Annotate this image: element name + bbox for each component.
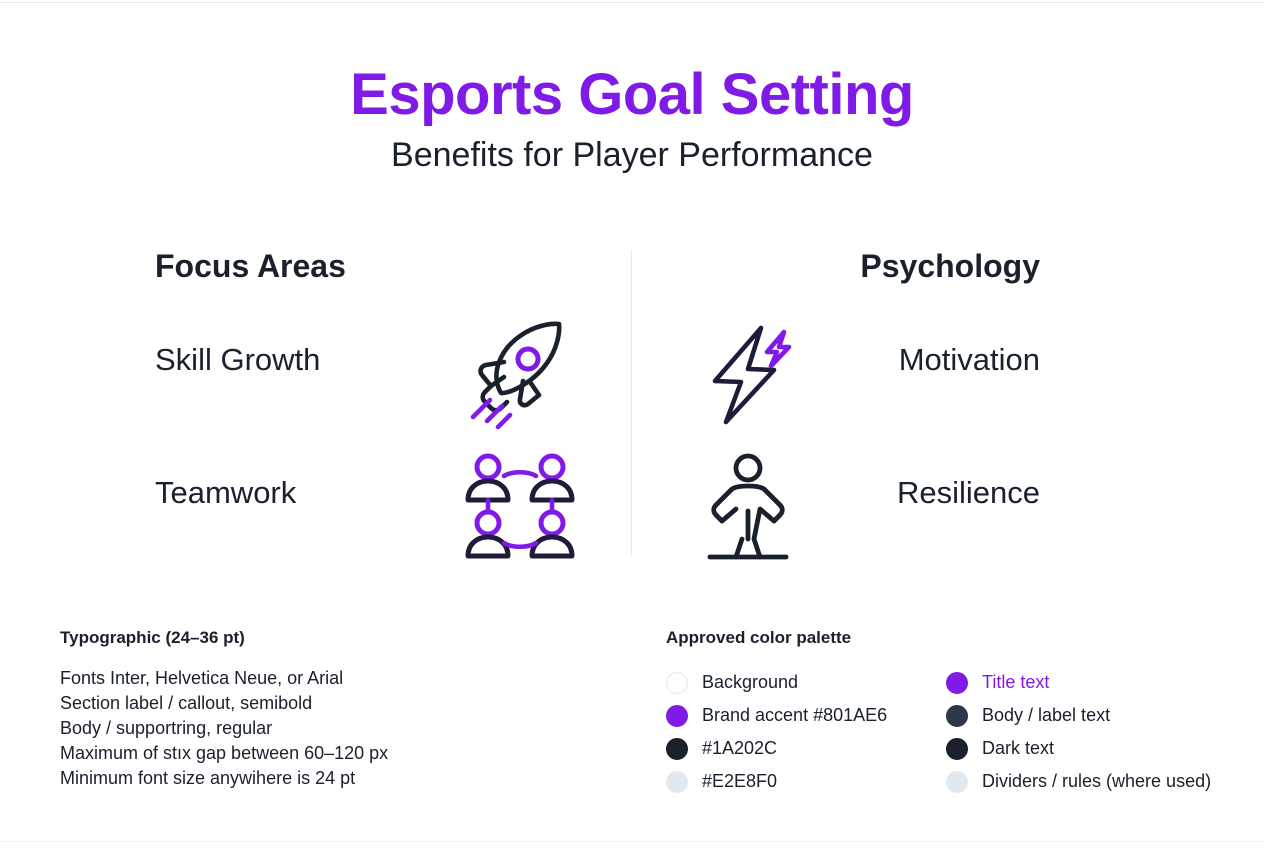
page-subtitle: Benefits for Player Performance bbox=[0, 135, 1264, 176]
color-swatch bbox=[666, 771, 688, 793]
slide-canvas: Esports Goal Setting Benefits for Player… bbox=[0, 0, 1264, 848]
slide-header: Esports Goal Setting Benefits for Player… bbox=[0, 64, 1264, 176]
color-swatch bbox=[946, 738, 968, 760]
item-label-skill-growth: Skill Growth bbox=[155, 342, 320, 378]
color-swatch bbox=[666, 672, 688, 694]
color-swatch bbox=[666, 705, 688, 727]
rocket-icon bbox=[460, 314, 580, 434]
color-palette: Approved color palette Background Brand … bbox=[666, 628, 1226, 798]
item-label-teamwork: Teamwork bbox=[155, 475, 296, 511]
color-swatch-label: Background bbox=[702, 672, 798, 693]
content-grid: Focus Areas Psychology Skill Growth bbox=[0, 248, 1264, 572]
palette-swatch-row: Background bbox=[666, 666, 946, 699]
color-palette-heading: Approved color palette bbox=[666, 628, 1226, 648]
typography-note-line: Minimum font size anywihere is 24 pt bbox=[60, 766, 580, 791]
top-edge-rule bbox=[0, 2, 1264, 3]
palette-swatch-row: Dividers / rules (where used) bbox=[946, 765, 1226, 798]
color-swatch-label: #1A202C bbox=[702, 738, 777, 759]
palette-column-left: Background Brand accent #801AE6 #1A202C … bbox=[666, 666, 946, 798]
color-swatch-label: Brand accent #801AE6 bbox=[702, 705, 887, 726]
team-network-icon bbox=[460, 447, 580, 567]
typography-notes-heading: Typographic (24–36 pt) bbox=[60, 628, 580, 648]
color-swatch bbox=[946, 705, 968, 727]
palette-swatch-row: Title text bbox=[946, 666, 1226, 699]
typography-note-line: Section label / callout, semibold bbox=[60, 691, 580, 716]
palette-swatch-row: Brand accent #801AE6 bbox=[666, 699, 946, 732]
color-swatch-label: Title text bbox=[982, 672, 1049, 693]
color-swatch-label: Dark text bbox=[982, 738, 1054, 759]
item-label-resilience: Resilience bbox=[897, 475, 1040, 511]
color-swatch-label: #E2E8F0 bbox=[702, 771, 777, 792]
color-swatch bbox=[666, 738, 688, 760]
palette-swatch-row: #E2E8F0 bbox=[666, 765, 946, 798]
column-headings-row: Focus Areas Psychology bbox=[0, 248, 1264, 306]
palette-swatch-row: Body / label text bbox=[946, 699, 1226, 732]
color-swatch-label: Body / label text bbox=[982, 705, 1110, 726]
color-swatch bbox=[946, 771, 968, 793]
typography-notes: Typographic (24–36 pt) Fonts Inter, Helv… bbox=[60, 628, 580, 791]
typography-note-line: Maximum of stıx gap between 60–120 px bbox=[60, 741, 580, 766]
bottom-edge-rule bbox=[0, 841, 1264, 842]
page-title: Esports Goal Setting bbox=[0, 64, 1264, 125]
color-swatch bbox=[946, 672, 968, 694]
item-label-motivation: Motivation bbox=[899, 342, 1040, 378]
standing-person-icon bbox=[688, 447, 808, 567]
palette-swatch-row: #1A202C bbox=[666, 732, 946, 765]
color-swatch-label: Dividers / rules (where used) bbox=[982, 771, 1211, 792]
column-heading-psychology: Psychology bbox=[860, 248, 1040, 285]
palette-column-right: Title text Body / label text Dark text D… bbox=[946, 666, 1226, 798]
lightning-bolt-icon bbox=[688, 314, 808, 434]
column-heading-focus-areas: Focus Areas bbox=[155, 248, 346, 285]
typography-note-line: Body / supportring, regular bbox=[60, 716, 580, 741]
palette-swatch-row: Dark text bbox=[946, 732, 1226, 765]
content-row: Skill Growth bbox=[0, 306, 1264, 439]
content-row: Teamwork bbox=[0, 439, 1264, 572]
typography-note-line: Fonts Inter, Helvetica Neue, or Arial bbox=[60, 666, 580, 691]
